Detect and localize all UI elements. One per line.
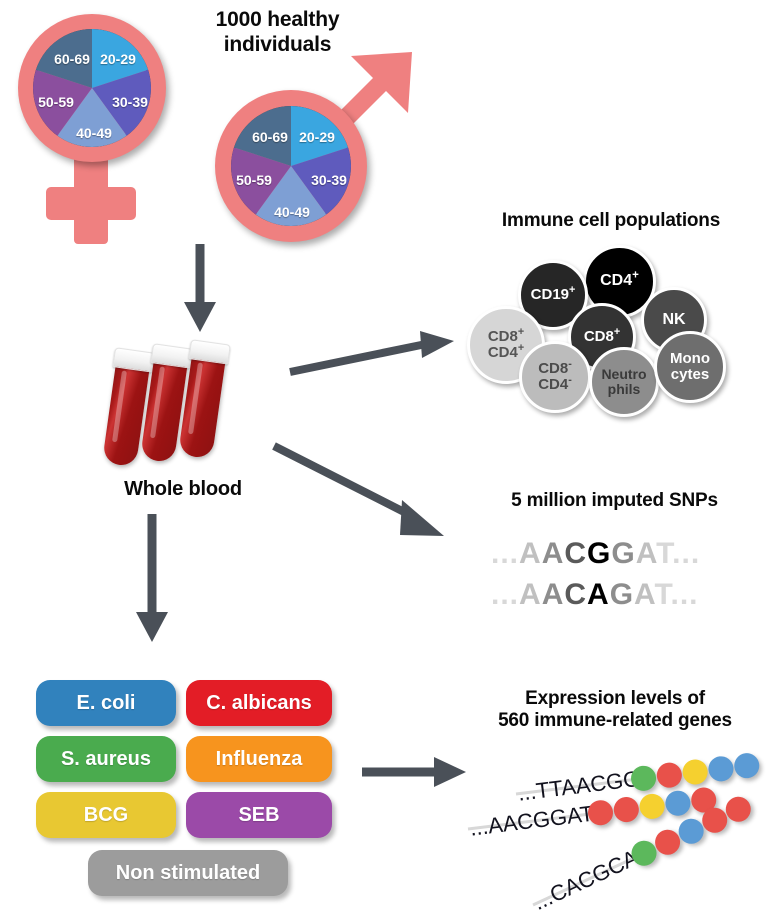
male-pie-label-30-39: 30-39	[311, 172, 347, 188]
immune-cell-label: CD8+	[584, 329, 620, 345]
male-pie-label-40-49: 40-49	[274, 204, 310, 220]
gene-bead	[638, 792, 666, 820]
expression-heading: Expression levels of 560 immune-related …	[460, 688, 770, 733]
snp-variant-allele-2: A	[587, 578, 610, 611]
immune-cell-bubble-neutrophils: Neutrophils	[589, 347, 659, 417]
stimulus-box-seb[interactable]: SEB	[186, 792, 332, 838]
stimulus-box-non-stimulated[interactable]: Non stimulated	[88, 850, 288, 896]
immune-cell-bubble-cd8-negative-cd4-negative: CD8-CD4-	[519, 341, 591, 413]
stimulus-box-influenza[interactable]: Influenza	[186, 736, 332, 782]
snp-left-flank: A	[542, 578, 565, 611]
snp-prefix: ...	[491, 537, 519, 570]
snp-right-flank: A	[636, 537, 656, 570]
female-pie-label-50-59: 50-59	[38, 94, 74, 110]
snp-sequence-row-2: ...AACAGAT...	[491, 578, 699, 612]
snp-suffix: ...	[671, 578, 699, 611]
stimulus-box-e-coli[interactable]: E. coli	[36, 680, 176, 726]
snp-suffix: ...	[672, 537, 700, 570]
blood-tubes	[118, 340, 248, 470]
snp-left-flank: A	[542, 537, 565, 570]
stimulus-box-bcg[interactable]: BCG	[36, 792, 176, 838]
stimulus-box-c-albicans[interactable]: C. albicans	[186, 680, 332, 726]
arrow-blood-to-immune	[288, 330, 458, 382]
immune-cell-label: Neutrophils	[601, 367, 646, 396]
gene-bead	[733, 752, 761, 780]
male-pie-label-20-29: 20-29	[299, 129, 335, 145]
immune-cell-label: CD8-CD4-	[538, 361, 572, 392]
snp-right-flank: G	[610, 578, 634, 611]
snp-left-flank: C	[564, 537, 587, 570]
whole-blood-label: Whole blood	[78, 478, 288, 502]
female-pie-label-40-49: 40-49	[76, 125, 112, 141]
gene-bead	[707, 755, 735, 783]
arrow-stimuli-to-expression	[360, 752, 470, 792]
snp-heading: 5 million imputed SNPs	[462, 490, 767, 512]
snp-sequence-row-1: ...AACGGAT...	[491, 537, 700, 571]
snp-left-flank: A	[519, 578, 542, 611]
snp-prefix: ...	[491, 578, 519, 611]
immune-cell-label: CD19+	[531, 287, 576, 303]
female-pie-label-30-39: 30-39	[112, 94, 148, 110]
expression-heading-line1: Expression levels of	[460, 688, 770, 710]
arrow-cohort-to-blood	[178, 244, 222, 336]
female-symbol-crossbar	[46, 187, 136, 220]
immune-cell-bubble-monocytes: Monocytes	[654, 331, 726, 403]
snp-variant-allele-1: G	[587, 537, 611, 570]
immune-cell-bubbles: CD4+ CD19+ NK CD8+CD4+ CD8+ CD8-CD4- Neu…	[455, 243, 771, 423]
snp-right-flank: A	[634, 578, 654, 611]
immune-cell-label: Monocytes	[670, 351, 710, 382]
female-pie-label-20-29: 20-29	[100, 51, 136, 67]
expression-heading-line2: 560 immune-related genes	[460, 710, 770, 732]
snp-left-flank: A	[519, 537, 542, 570]
male-pie-label-60-69: 60-69	[252, 129, 288, 145]
female-pie-label-60-69: 60-69	[54, 51, 90, 67]
immune-cell-heading: Immune cell populations	[452, 210, 770, 232]
gene-strand-sequence: ...AACGGAT	[468, 801, 595, 842]
arrow-blood-to-snps	[272, 440, 452, 548]
female-symbol: 20-29 30-39 40-49 50-59 60-69	[8, 14, 198, 244]
male-pie-label-50-59: 50-59	[236, 172, 272, 188]
snp-left-flank: C	[564, 578, 587, 611]
immune-cell-label: CD4+	[600, 273, 639, 290]
gene-bead	[612, 796, 640, 824]
cohort-title-line1: 1000 healthy	[170, 8, 385, 33]
snp-right-flank: T	[655, 578, 671, 611]
snp-right-flank: T	[656, 537, 672, 570]
immune-cell-label: CD8+CD4+	[488, 329, 524, 360]
immune-cell-label: NK	[662, 312, 685, 329]
figure-canvas: 1000 healthy individuals 20-29 30-39 40-…	[0, 0, 771, 922]
snp-right-flank: G	[611, 537, 635, 570]
male-symbol: 20-29 30-39 40-49 50-59 60-69	[205, 42, 420, 247]
stimulus-box-s-aureus[interactable]: S. aureus	[36, 736, 176, 782]
arrow-blood-to-stimuli	[131, 514, 175, 646]
